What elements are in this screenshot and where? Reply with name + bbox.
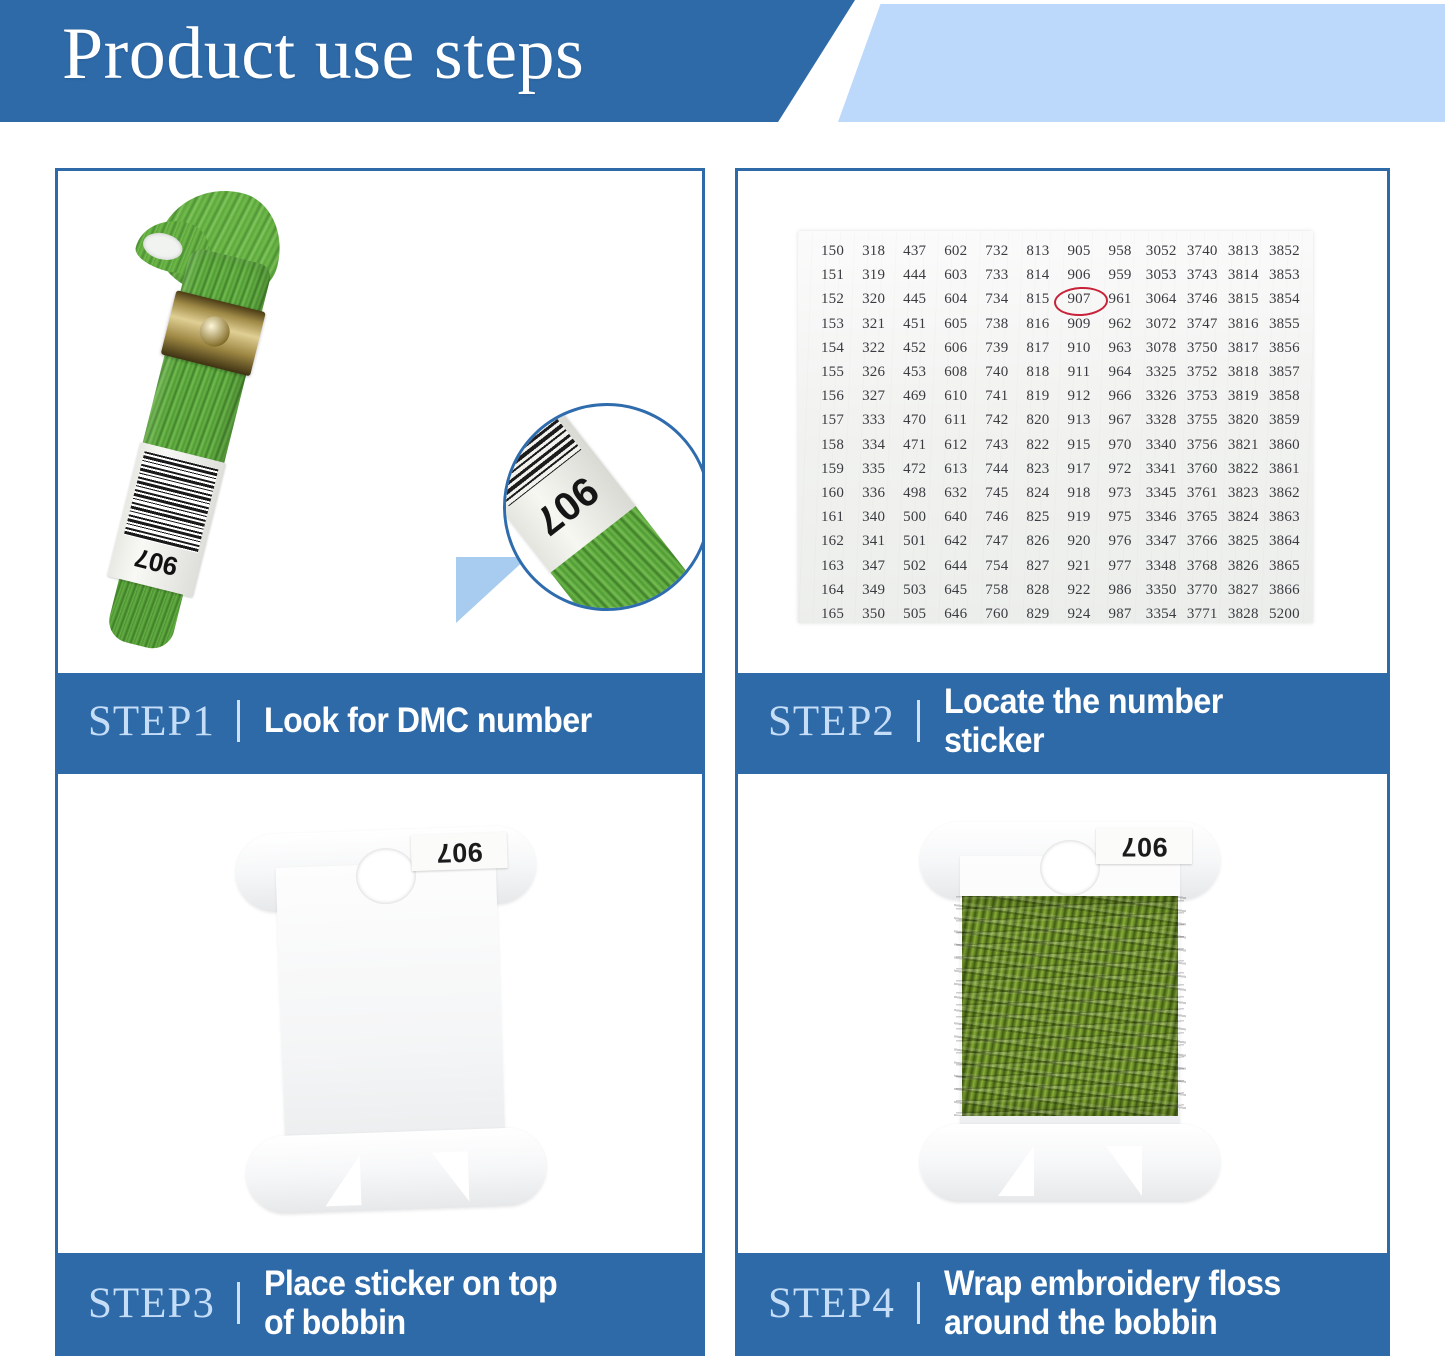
dmc-number-cell: 972 <box>1109 457 1132 481</box>
dmc-number-cell: 150 <box>821 239 844 263</box>
dmc-number-cell: 3354 <box>1146 602 1177 623</box>
bobbin-icon: 907 <box>234 825 547 1215</box>
dmc-number-cell: 164 <box>821 578 844 602</box>
dmc-number-cell: 470 <box>903 408 926 432</box>
dmc-number-cell: 3747 <box>1187 312 1218 336</box>
page-header: Product use steps <box>0 0 1445 126</box>
dmc-number-cell: 347 <box>862 554 885 578</box>
dmc-number-cell: 3865 <box>1269 554 1300 578</box>
dmc-number-cell: 922 <box>1067 578 1090 602</box>
dmc-number-cell: 350 <box>862 602 885 623</box>
dmc-number-cell: 824 <box>1026 481 1049 505</box>
step-card-1: 907 907 STEP1 Look for DMC <box>55 168 705 772</box>
dmc-sticker-sheet: 1501511521531541551561571581591601611621… <box>798 231 1313 623</box>
dmc-number-cell: 3853 <box>1269 263 1300 287</box>
step-3-label: STEP3 <box>88 1279 215 1328</box>
dmc-number-cell: 646 <box>944 602 967 623</box>
dmc-number-cell: 437 <box>903 239 926 263</box>
dmc-number-cell: 744 <box>985 457 1008 481</box>
dmc-number-cell: 822 <box>1026 433 1049 457</box>
dmc-number-cell: 829 <box>1026 602 1049 623</box>
dmc-number-cell: 3761 <box>1187 481 1218 505</box>
magnified-label-strip: 907 <box>503 403 702 611</box>
dmc-number-cell: 758 <box>985 578 1008 602</box>
dmc-number-cell: 3813 <box>1228 239 1259 263</box>
dmc-number-cell: 318 <box>862 239 885 263</box>
dmc-column: 3183193203213223263273333343353363403413… <box>853 239 894 623</box>
dmc-number-cell: 3750 <box>1187 336 1218 360</box>
dmc-column: 3852385338543855385638573858385938603861… <box>1264 239 1305 623</box>
dmc-number-cell: 3746 <box>1187 287 1218 311</box>
dmc-number-cell: 3815 <box>1228 287 1259 311</box>
dmc-number-cell: 987 <box>1109 602 1132 623</box>
step-4-text: Wrap embroidery floss around the bobbin <box>944 1264 1281 1342</box>
dmc-column: 8138148158168178188198208228238248258268… <box>1017 239 1058 623</box>
bobbin-notch-right <box>1106 1146 1142 1196</box>
step-1-caption: STEP1 Look for DMC number <box>58 673 702 769</box>
dmc-number-cell: 743 <box>985 433 1008 457</box>
dmc-number-cell: 909 <box>1067 312 1090 336</box>
dmc-number-cell: 975 <box>1109 505 1132 529</box>
bobbin-dmc-number: 907 <box>435 835 483 868</box>
wrapped-bobbin-illustration: 907 <box>738 774 1387 1253</box>
dmc-number-cell: 645 <box>944 578 967 602</box>
dmc-number-cell: 327 <box>862 384 885 408</box>
dmc-number-cell: 451 <box>903 312 926 336</box>
bobbin-wrapped-icon: 907 <box>920 822 1220 1202</box>
step-card-2: 1501511521531541551561571581591601611621… <box>735 168 1390 772</box>
dmc-number-cell: 604 <box>944 287 967 311</box>
dmc-number-cell: 3072 <box>1146 312 1177 336</box>
dmc-number-cell: 336 <box>862 481 885 505</box>
bobbin-notch-right <box>432 1151 470 1202</box>
dmc-number-cell: 644 <box>944 554 967 578</box>
dmc-number-cell: 738 <box>985 312 1008 336</box>
dmc-number-cell: 341 <box>862 529 885 553</box>
dmc-number-cell: 3855 <box>1269 312 1300 336</box>
step-3-caption: STEP3 Place sticker on top of bobbin <box>58 1253 702 1353</box>
dmc-number-cell: 740 <box>985 360 1008 384</box>
step-card-3: 907 STEP3 Place sticker on top of bobbin <box>55 771 705 1356</box>
dmc-number-cell: 966 <box>1109 384 1132 408</box>
step-2-label: STEP2 <box>768 697 895 746</box>
dmc-number-cell: 3863 <box>1269 505 1300 529</box>
dmc-number-cell: 3768 <box>1187 554 1218 578</box>
dmc-number-cell: 501 <box>903 529 926 553</box>
step-1-divider <box>237 700 240 742</box>
dmc-number-cell: 3821 <box>1228 433 1259 457</box>
dmc-number-cell: 445 <box>903 287 926 311</box>
dmc-number-cell: 3326 <box>1146 384 1177 408</box>
magnifier-circle: 907 <box>503 403 702 611</box>
dmc-number-cell: 911 <box>1068 360 1091 384</box>
dmc-number-cell: 913 <box>1067 408 1090 432</box>
dmc-number-cell: 152 <box>821 287 844 311</box>
dmc-number-cell: 3856 <box>1269 336 1300 360</box>
dmc-number-columns: 1501511521531541551561571581591601611621… <box>798 235 1313 623</box>
dmc-number-cell: 3854 <box>1269 287 1300 311</box>
dmc-column: 4374444454514524534694704714724985005015… <box>894 239 935 623</box>
dmc-number-cell: 602 <box>944 239 967 263</box>
dmc-number-cell: 321 <box>862 312 885 336</box>
dmc-number-cell: 159 <box>821 457 844 481</box>
dmc-number-cell: 3740 <box>1187 239 1218 263</box>
dmc-number-cell: 611 <box>945 408 968 432</box>
dmc-number-cell: 161 <box>821 505 844 529</box>
dmc-number-cell: 967 <box>1109 408 1132 432</box>
wrapped-floss <box>962 896 1178 1116</box>
dmc-number-cell: 500 <box>903 505 926 529</box>
dmc-number-cell: 814 <box>1026 263 1049 287</box>
dmc-number-cell: 746 <box>985 505 1008 529</box>
dmc-number-cell: 3818 <box>1228 360 1259 384</box>
dmc-number-cell: 160 <box>821 481 844 505</box>
dmc-number-cell: 3346 <box>1146 505 1177 529</box>
dmc-number-cell: 3755 <box>1187 408 1218 432</box>
dmc-number-cell: 962 <box>1109 312 1132 336</box>
dmc-number-cell: 151 <box>821 263 844 287</box>
dmc-number-cell: 3820 <box>1228 408 1259 432</box>
dmc-number-cell: 3766 <box>1187 529 1218 553</box>
dmc-number-cell: 910 <box>1067 336 1090 360</box>
dmc-number-cell: 815 <box>1026 287 1049 311</box>
step-3-divider <box>237 1282 240 1324</box>
dmc-number-cell: 3347 <box>1146 529 1177 553</box>
dmc-number-cell: 3817 <box>1228 336 1259 360</box>
dmc-number-cell: 760 <box>985 602 1008 623</box>
bobbin-notch-left <box>998 1146 1034 1196</box>
dmc-number-cell: 924 <box>1067 602 1090 623</box>
dmc-number-cell: 505 <box>903 602 926 623</box>
dmc-number-cell: 739 <box>985 336 1008 360</box>
dmc-number-cell: 3862 <box>1269 481 1300 505</box>
dmc-number-cell: 157 <box>821 408 844 432</box>
dmc-number-cell: 3771 <box>1187 602 1218 623</box>
dmc-number-cell: 319 <box>862 263 885 287</box>
dmc-number-cell: 915 <box>1067 433 1090 457</box>
dmc-number-cell: 453 <box>903 360 926 384</box>
dmc-number-cell: 326 <box>862 360 885 384</box>
dmc-number-cell: 640 <box>944 505 967 529</box>
dmc-number-cell: 964 <box>1109 360 1132 384</box>
dmc-number-cell: 3858 <box>1269 384 1300 408</box>
dmc-number-cell: 732 <box>985 239 1008 263</box>
dmc-number-cell: 502 <box>903 554 926 578</box>
bobbin-number-sticker: 907 <box>1096 828 1192 864</box>
dmc-number-cell: 921 <box>1067 554 1090 578</box>
dmc-number-cell: 973 <box>1109 481 1132 505</box>
dmc-number-cell: 959 <box>1109 263 1132 287</box>
dmc-number-cell: 3861 <box>1269 457 1300 481</box>
dmc-number-cell: 3864 <box>1269 529 1300 553</box>
dmc-number-cell: 3824 <box>1228 505 1259 529</box>
dmc-number-cell: 741 <box>985 384 1008 408</box>
dmc-number-cell: 919 <box>1067 505 1090 529</box>
dmc-number-cell: 3825 <box>1228 529 1259 553</box>
dmc-number-cell: 334 <box>862 433 885 457</box>
dmc-number-cell: 162 <box>821 529 844 553</box>
dmc-column: 3740374337463747375037523753375537563760… <box>1182 239 1223 623</box>
empty-bobbin-illustration: 907 <box>58 774 702 1253</box>
dmc-number-cell: 816 <box>1026 312 1049 336</box>
dmc-number-cell: 498 <box>903 481 926 505</box>
dmc-number-cell: 155 <box>821 360 844 384</box>
dmc-number-cell: 3852 <box>1269 239 1300 263</box>
dmc-number-cell: 958 <box>1109 239 1132 263</box>
step-4-media: 907 <box>738 774 1387 1253</box>
dmc-number-cell: 817 <box>1026 336 1049 360</box>
dmc-number-cell: 3760 <box>1187 457 1218 481</box>
dmc-number-cell: 335 <box>862 457 885 481</box>
dmc-number-cell: 322 <box>862 336 885 360</box>
dmc-number-cell: 3053 <box>1146 263 1177 287</box>
dmc-number-cell: 642 <box>944 529 967 553</box>
step-2-caption: STEP2 Locate the number sticker <box>738 673 1387 769</box>
bobbin-bottom-wing <box>245 1127 548 1215</box>
dmc-number-cell: 452 <box>903 336 926 360</box>
dmc-column: 9059069079099109119129139159179189199209… <box>1058 239 1099 623</box>
dmc-number-cell: 819 <box>1026 384 1049 408</box>
dmc-number-cell: 747 <box>985 529 1008 553</box>
dmc-number-cell: 603 <box>944 263 967 287</box>
dmc-number-cell: 733 <box>985 263 1008 287</box>
dmc-number-cell: 734 <box>985 287 1008 311</box>
page-title: Product use steps <box>62 12 584 97</box>
dmc-number-cell: 349 <box>862 578 885 602</box>
dmc-number-cell: 3819 <box>1228 384 1259 408</box>
floss-skein-illustration: 907 907 <box>58 171 702 673</box>
dmc-number-cell: 963 <box>1109 336 1132 360</box>
dmc-number-cell: 754 <box>985 554 1008 578</box>
dmc-number-cell: 3052 <box>1146 239 1177 263</box>
dmc-number-cell: 608 <box>944 360 967 384</box>
dmc-number-cell: 977 <box>1109 554 1132 578</box>
dmc-number-cell: 970 <box>1109 433 1132 457</box>
dmc-number-cell: 333 <box>862 408 885 432</box>
dmc-number-highlighted: 907 <box>1067 287 1090 311</box>
magnifier-pointer <box>456 557 528 623</box>
dmc-number-cell: 3860 <box>1269 433 1300 457</box>
step-4-caption: STEP4 Wrap embroidery floss around the b… <box>738 1253 1387 1353</box>
dmc-number-cell: 917 <box>1067 457 1090 481</box>
dmc-number-cell: 3348 <box>1146 554 1177 578</box>
dmc-number-cell: 613 <box>944 457 967 481</box>
dmc-number-cell: 825 <box>1026 505 1049 529</box>
step-2-media: 1501511521531541551561571581591601611621… <box>738 171 1387 673</box>
dmc-number-cell: 605 <box>944 312 967 336</box>
dmc-number-cell: 469 <box>903 384 926 408</box>
dmc-number-cell: 503 <box>903 578 926 602</box>
header-light-banner <box>838 4 1445 122</box>
dmc-number-cell: 165 <box>821 602 844 623</box>
dmc-number-cell: 472 <box>903 457 926 481</box>
dmc-number-cell: 827 <box>1026 554 1049 578</box>
dmc-number-cell: 156 <box>821 384 844 408</box>
dmc-number-cell: 3328 <box>1146 408 1177 432</box>
dmc-number-cell: 153 <box>821 312 844 336</box>
dmc-number-cell: 920 <box>1067 529 1090 553</box>
dmc-number-cell: 632 <box>944 481 967 505</box>
dmc-number-cell: 154 <box>821 336 844 360</box>
dmc-number-cell: 606 <box>944 336 967 360</box>
step-4-label: STEP4 <box>768 1279 895 1328</box>
dmc-number-cell: 3743 <box>1187 263 1218 287</box>
step-1-media: 907 907 <box>58 171 702 673</box>
bobbin-dmc-number: 907 <box>1121 831 1168 862</box>
step-card-4: 907 STEP4 Wrap embroidery floss around t… <box>735 771 1390 1356</box>
dmc-number-cell: 820 <box>1026 408 1049 432</box>
step-2-divider <box>917 700 920 742</box>
dmc-number-cell: 912 <box>1067 384 1090 408</box>
dmc-number-cell: 3064 <box>1146 287 1177 311</box>
dmc-number-cell: 3770 <box>1187 578 1218 602</box>
dmc-column: 3052305330643072307833253326332833403341… <box>1141 239 1182 623</box>
step-1-text: Look for DMC number <box>264 701 592 740</box>
dmc-number-cell: 3325 <box>1146 360 1177 384</box>
dmc-number-cell: 3340 <box>1146 433 1177 457</box>
dmc-number-cell: 906 <box>1067 263 1090 287</box>
dmc-number-cell: 3827 <box>1228 578 1259 602</box>
dmc-column: 3813381438153816381738183819382038213822… <box>1223 239 1264 623</box>
step-3-media: 907 <box>58 774 702 1253</box>
dmc-number-cell: 320 <box>862 287 885 311</box>
dmc-number-cell: 828 <box>1026 578 1049 602</box>
dmc-number-cell: 3350 <box>1146 578 1177 602</box>
dmc-number-cell: 471 <box>903 433 926 457</box>
dmc-number-cell: 905 <box>1067 239 1090 263</box>
dmc-number-cell: 3753 <box>1187 384 1218 408</box>
dmc-number-cell: 745 <box>985 481 1008 505</box>
dmc-number-cell: 3345 <box>1146 481 1177 505</box>
dmc-number-cell: 3756 <box>1187 433 1218 457</box>
dmc-number-cell: 3752 <box>1187 360 1218 384</box>
bobbin-bottom-wing <box>920 1124 1220 1202</box>
barcode-icon <box>124 451 219 553</box>
dmc-number-cell: 610 <box>944 384 967 408</box>
dmc-column: 6026036046056066086106116126136326406426… <box>935 239 976 623</box>
dmc-number-cell: 3822 <box>1228 457 1259 481</box>
dmc-number-cell: 961 <box>1109 287 1132 311</box>
dmc-number-cell: 813 <box>1026 239 1049 263</box>
dmc-number-cell: 3816 <box>1228 312 1259 336</box>
step-4-divider <box>917 1282 920 1324</box>
dmc-column: 7327337347387397407417427437447457467477… <box>976 239 1017 623</box>
skein-icon: 907 <box>92 186 311 641</box>
dmc-barcode-label: 907 <box>107 442 226 597</box>
steps-grid: 907 907 STEP1 Look for DMC <box>0 126 1445 1356</box>
dmc-number-cell: 826 <box>1026 529 1049 553</box>
dmc-number-cell: 3826 <box>1228 554 1259 578</box>
bobbin-notch-left <box>324 1155 362 1206</box>
step-3-text: Place sticker on top of bobbin <box>264 1264 557 1342</box>
dmc-number-cell: 742 <box>985 408 1008 432</box>
step-2-text: Locate the number sticker <box>944 682 1223 760</box>
bobbin-hole <box>1040 840 1100 896</box>
dmc-number-cell: 163 <box>821 554 844 578</box>
dmc-number-cell: 3341 <box>1146 457 1177 481</box>
dmc-number-cell: 340 <box>862 505 885 529</box>
dmc-number-cell: 3765 <box>1187 505 1218 529</box>
step-1-label: STEP1 <box>88 697 215 746</box>
dmc-number-cell: 3823 <box>1228 481 1259 505</box>
dmc-number-cell: 3866 <box>1269 578 1300 602</box>
dmc-number-cell: 158 <box>821 433 844 457</box>
dmc-number-cell: 818 <box>1026 360 1049 384</box>
dmc-number-cell: 444 <box>903 263 926 287</box>
dmc-number-cell: 612 <box>944 433 967 457</box>
dmc-number-cell: 5200 <box>1269 602 1300 623</box>
dmc-number-cell: 3814 <box>1228 263 1259 287</box>
dmc-number-cell: 3828 <box>1228 602 1259 623</box>
dmc-number-cell: 3859 <box>1269 408 1300 432</box>
bobbin-number-sticker: 907 <box>411 832 508 871</box>
dmc-number-cell: 976 <box>1109 529 1132 553</box>
dmc-number-cell: 3857 <box>1269 360 1300 384</box>
dmc-number-cell: 823 <box>1026 457 1049 481</box>
dmc-number-cell: 918 <box>1067 481 1090 505</box>
dmc-number-cell: 986 <box>1109 578 1132 602</box>
dmc-column: 1501511521531541551561571581591601611621… <box>812 239 853 623</box>
dmc-number-cell: 3078 <box>1146 336 1177 360</box>
